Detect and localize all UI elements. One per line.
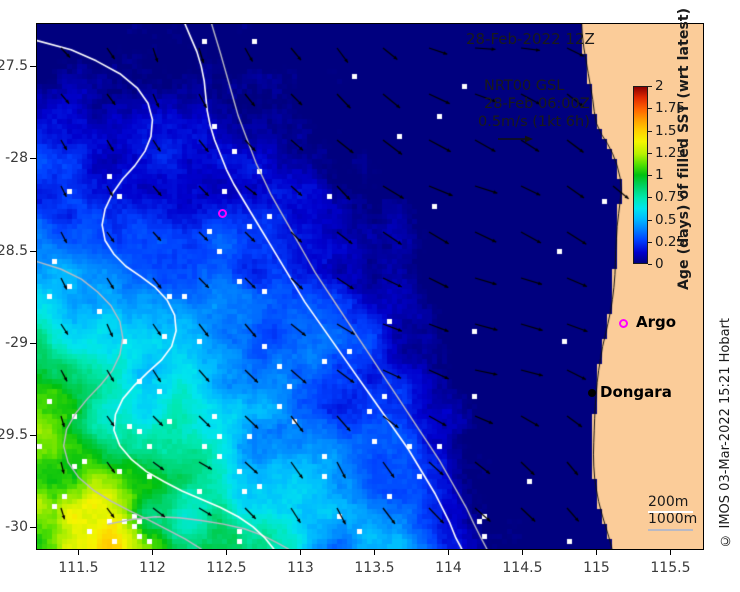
x-axis-label: 115 — [583, 560, 610, 576]
date-stamp-label: 28-Feb-2022 12Z — [466, 30, 595, 48]
model-name-label: NRT00 GSL — [484, 78, 564, 94]
depth-200m-label: 200m — [648, 494, 697, 511]
x-axis-tick — [596, 549, 597, 555]
colorbar-tick — [648, 131, 652, 132]
colorbar-tick — [648, 86, 652, 87]
surface-current-vector-overlay — [37, 24, 703, 549]
depth-200m-swatch — [648, 511, 693, 513]
y-axis-tick — [30, 158, 36, 159]
x-axis-label: 113.5 — [354, 560, 394, 576]
colorbar-title: Age (days) of filled SST (wrt latest) — [676, 60, 692, 290]
x-axis-tick — [226, 549, 227, 555]
colorbar-tick-label: 0 — [655, 256, 664, 272]
colorbar-tick — [648, 220, 652, 221]
y-axis-label: -28.5 — [0, 243, 28, 259]
colorbar-tick-label: 1.5 — [655, 123, 676, 139]
argo-legend-label: Argo — [636, 313, 676, 331]
depth-1000m-label: 1000m — [648, 511, 697, 528]
y-axis-tick — [30, 251, 36, 252]
x-axis-tick — [152, 549, 153, 555]
colorbar-tick-label: 0.5 — [655, 212, 676, 228]
argo-float-marker[interactable] — [218, 209, 227, 218]
colorbar-tick — [648, 108, 652, 109]
x-axis-label: 111.5 — [58, 560, 98, 576]
colorbar-tick — [648, 197, 652, 198]
x-axis-tick — [374, 549, 375, 555]
dongara-town-marker — [588, 389, 596, 397]
colorbar-tick — [648, 242, 652, 243]
argo-legend-marker-icon — [619, 319, 628, 328]
y-axis-tick — [30, 527, 36, 528]
x-axis-label: 112.5 — [206, 560, 246, 576]
x-axis-tick — [78, 549, 79, 555]
colorbar-tick-label: 1 — [655, 167, 664, 183]
x-axis-label: 113 — [287, 560, 314, 576]
y-axis-tick — [30, 435, 36, 436]
x-axis-tick — [448, 549, 449, 555]
y-axis-tick — [30, 343, 36, 344]
y-axis-label: -27.5 — [0, 58, 28, 74]
x-axis-label: 114 — [435, 560, 462, 576]
y-axis-label: -29.5 — [0, 427, 28, 443]
colorbar: 21.751.51.2510.750.50.250 — [633, 86, 648, 264]
copyright-credit: © IMOS 03-Mar-2022 15:21 Hobart — [718, 318, 733, 548]
colorbar-tick — [648, 264, 652, 265]
y-axis-tick — [30, 66, 36, 67]
colorbar-gradient — [633, 86, 648, 264]
model-time-label: 28-Feb 06:00Z — [484, 96, 590, 112]
y-axis-label: -29 — [5, 335, 28, 351]
dongara-town-label: Dongara — [600, 383, 672, 401]
vector-scale-label: 0.5m/s (1kt 6h) — [478, 114, 590, 130]
map-plot-area[interactable] — [36, 23, 704, 550]
colorbar-tick-label: 2 — [655, 78, 664, 94]
vector-key-arrow-icon — [497, 133, 533, 145]
colorbar-tick — [648, 175, 652, 176]
sst-age-map-figure: 28-Feb-2022 12Z NRT00 GSL 28-Feb 06:00Z … — [0, 0, 740, 592]
x-axis-label: 115.5 — [650, 560, 690, 576]
depth-1000m-swatch — [648, 529, 693, 531]
x-axis-label: 114.5 — [502, 560, 542, 576]
y-axis-label: -28 — [5, 150, 28, 166]
x-axis-label: 112 — [139, 560, 166, 576]
x-axis-tick — [300, 549, 301, 555]
x-axis-tick — [522, 549, 523, 555]
y-axis-label: -30 — [5, 519, 28, 535]
x-axis-tick — [670, 549, 671, 555]
colorbar-tick — [648, 153, 652, 154]
